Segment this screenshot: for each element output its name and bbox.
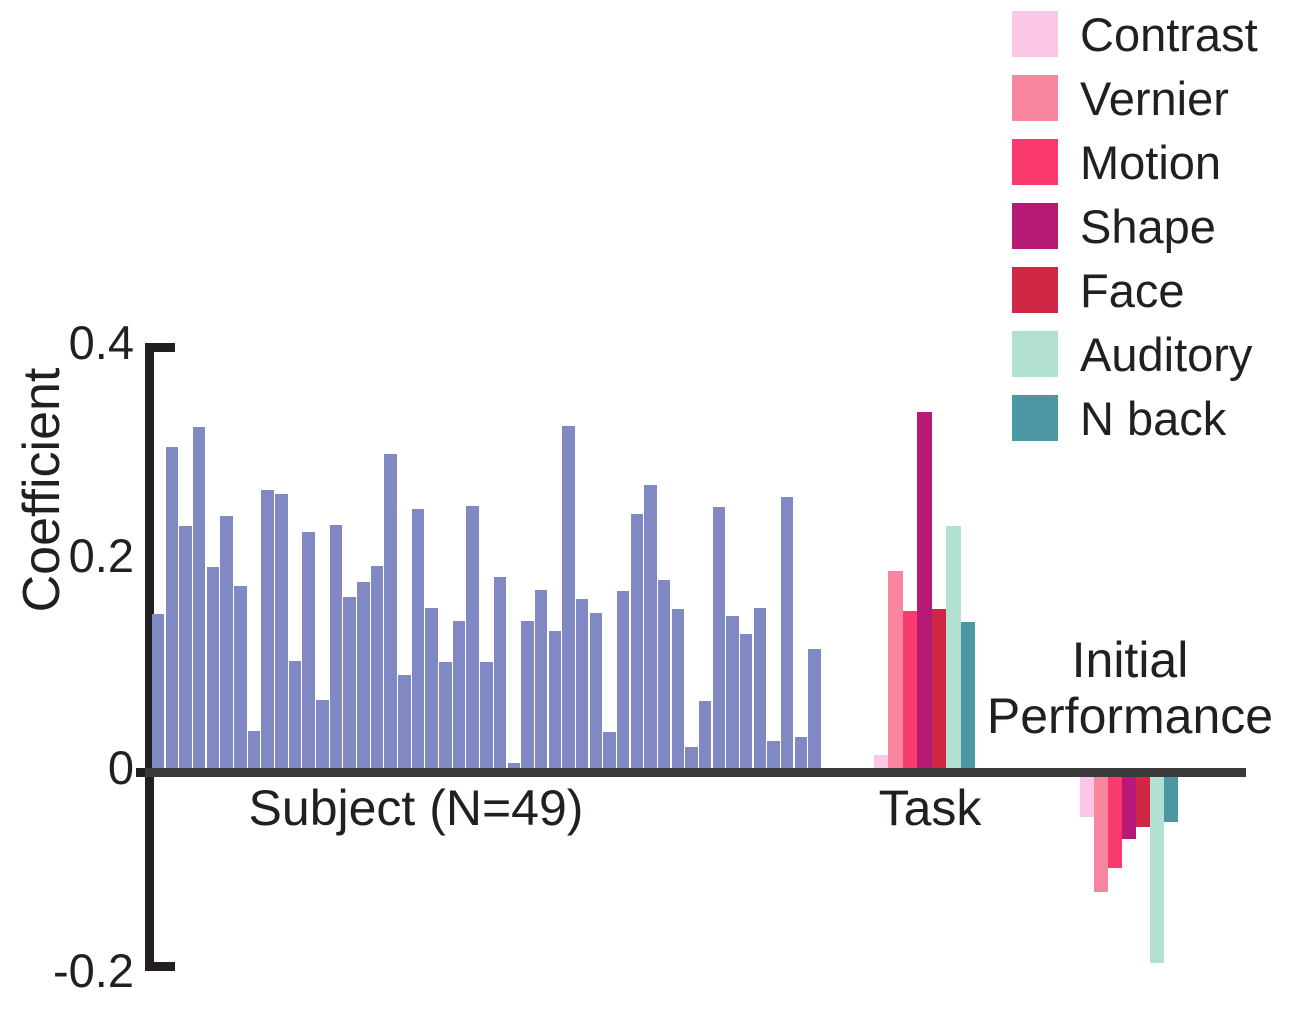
color-swatch-icon [1012,267,1058,313]
bar-subject [549,631,561,768]
bar-subject [289,661,301,768]
color-swatch-icon [1012,75,1058,121]
bar-subject [740,634,752,768]
legend-item-label: N back [1080,395,1226,442]
bar-subject [808,649,820,768]
bar-task-motion [903,611,917,768]
bar-subject [535,590,547,769]
bar-subject [685,747,697,768]
bar-subject [453,621,465,768]
color-swatch-icon [1012,11,1058,57]
bar-subject [384,454,396,769]
legend-item-motion[interactable]: Motion [1012,130,1300,194]
bar-subject [357,582,369,768]
bar-subject [617,591,629,768]
bar-subject [261,490,273,768]
legend-item-label: Face [1080,267,1185,314]
bar-subject [754,608,766,768]
bar-initial-performance-auditory [1150,768,1164,963]
legend: ContrastVernierMotionShapeFaceAuditoryN … [1012,2,1300,450]
group-caption-task: Task [830,780,1030,836]
bar-initial-performance-vernier [1094,768,1108,892]
bar-subject [302,532,314,768]
bar-initial-performance-shape [1122,768,1136,839]
bar-subject [234,586,246,768]
bar-subject [494,577,506,768]
group-caption-initial-performance-line2: Performance [965,688,1295,744]
bar-task-auditory [946,526,960,768]
bar-subject [480,662,492,768]
bar-subject [699,701,711,768]
legend-item-n-back[interactable]: N back [1012,386,1300,450]
legend-item-label: Vernier [1080,75,1229,122]
legend-item-label: Contrast [1080,11,1258,58]
legend-item-label: Motion [1080,139,1221,186]
bar-task-vernier [888,571,902,768]
bar-initial-performance-motion [1108,768,1122,868]
bar-subject [590,613,602,768]
group-caption-initial-performance: Initial Performance [965,632,1295,744]
zero-baseline [145,768,1246,777]
bar-subject [425,608,437,768]
color-swatch-icon [1012,203,1058,249]
legend-item-shape[interactable]: Shape [1012,194,1300,258]
bar-subject [316,700,328,768]
bar-subject [795,737,807,768]
bar-subject [576,599,588,768]
bar-subject [248,731,260,768]
legend-item-vernier[interactable]: Vernier [1012,66,1300,130]
bar-subject [631,514,643,768]
bar-subject [220,516,232,768]
bar-subject [644,485,656,768]
bar-subject [412,509,424,768]
bar-subject [152,614,164,768]
group-caption-initial-performance-line1: Initial [965,632,1295,688]
bar-subject [603,732,615,768]
bar-subject [179,526,191,768]
bar-subject [398,675,410,769]
bar-subject [275,494,287,768]
bar-subject [343,597,355,768]
bar-subject [166,447,178,768]
color-swatch-icon [1012,139,1058,185]
legend-item-label: Auditory [1080,331,1252,378]
bar-subject [466,506,478,768]
bar-subject [193,427,205,768]
bar-subject [371,566,383,768]
bar-subject [672,609,684,768]
bar-subject [207,567,219,768]
color-swatch-icon [1012,395,1058,441]
bar-task-face [932,609,946,768]
bar-subject [521,621,533,768]
legend-item-contrast[interactable]: Contrast [1012,2,1300,66]
legend-item-face[interactable]: Face [1012,258,1300,322]
legend-item-label: Shape [1080,203,1216,250]
bar-task-contrast [874,755,888,768]
bar-subject [767,741,779,768]
bar-subject [330,525,342,768]
legend-item-auditory[interactable]: Auditory [1012,322,1300,386]
bar-subject [439,662,451,768]
bar-subject [658,580,670,768]
bar-subject [726,616,738,768]
bar-subject [562,426,574,768]
color-swatch-icon [1012,331,1058,377]
bar-subject [713,507,725,768]
bar-subject [781,497,793,768]
group-caption-subject: Subject (N=49) [206,780,626,836]
bar-task-shape [917,412,931,768]
coefficient-bar-chart: Coefficient 0.4 0.2 0 -0.2 Subject (N=49… [0,0,1300,1013]
